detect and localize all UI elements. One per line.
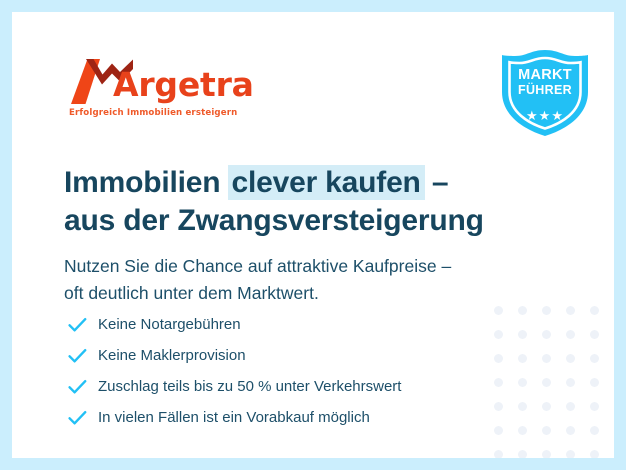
decorative-dot	[590, 306, 599, 315]
check-icon	[68, 379, 94, 395]
benefits-list: Keine NotargebührenKeine Maklerprovision…	[68, 309, 568, 433]
argetra-logo[interactable]: Argetra Erfolgreich Immobilien ersteiger…	[67, 56, 257, 122]
list-item-label: Zuschlag teils bis zu 50 % unter Verkehr…	[94, 378, 401, 395]
headline-line-2: aus der Zwangsversteigerung	[64, 202, 584, 240]
decorative-dot	[590, 450, 599, 458]
market-leader-badge: MARKT FÜHRER ★★★	[499, 48, 591, 138]
headline-line-1: Immobilien clever kaufen –	[64, 164, 584, 202]
decorative-dot	[590, 330, 599, 339]
list-item: Zuschlag teils bis zu 50 % unter Verkehr…	[68, 371, 568, 402]
headline-pre: Immobilien	[64, 166, 229, 199]
list-item-label: In vielen Fällen ist ein Vorabkauf mögli…	[94, 409, 370, 426]
decorative-dot	[494, 450, 503, 458]
logo-wordmark: Argetra	[113, 68, 254, 101]
page-title: Immobilien clever kaufen – aus der Zwang…	[64, 164, 584, 241]
check-icon	[68, 410, 94, 426]
headline-highlight: clever kaufen	[228, 165, 425, 200]
decorative-dot	[590, 402, 599, 411]
decorative-dot	[590, 426, 599, 435]
decorative-dot	[590, 354, 599, 363]
decorative-dot	[518, 450, 527, 458]
check-icon	[68, 317, 94, 333]
list-item-label: Keine Maklerprovision	[94, 347, 246, 364]
decorative-dot	[542, 450, 551, 458]
promo-card: Argetra Erfolgreich Immobilien ersteiger…	[12, 12, 614, 458]
subheading: Nutzen Sie die Chance auf attraktive Kau…	[64, 253, 584, 307]
logo-tagline: Erfolgreich Immobilien ersteigern	[69, 108, 237, 118]
list-item: In vielen Fällen ist ein Vorabkauf mögli…	[68, 402, 568, 433]
decorative-dot	[566, 450, 575, 458]
subheading-line-1: Nutzen Sie die Chance auf attraktive Kau…	[64, 253, 584, 280]
list-item: Keine Maklerprovision	[68, 340, 568, 371]
subheading-line-2: oft deutlich unter dem Marktwert.	[64, 280, 584, 307]
list-item: Keine Notargebühren	[68, 309, 568, 340]
decorative-dot	[590, 378, 599, 387]
list-item-label: Keine Notargebühren	[94, 316, 241, 333]
check-icon	[68, 348, 94, 364]
headline-post: –	[424, 166, 449, 199]
